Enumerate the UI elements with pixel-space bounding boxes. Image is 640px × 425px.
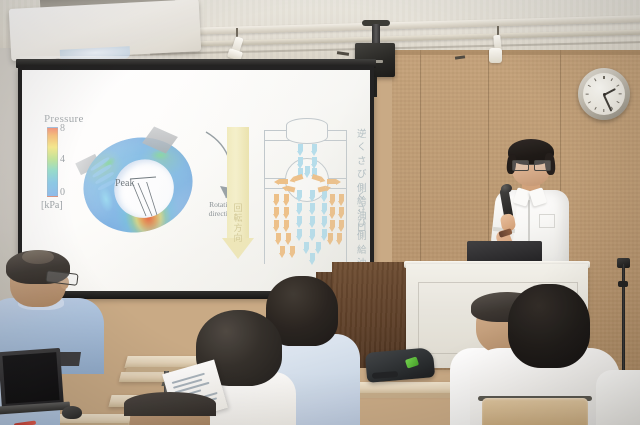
attendee-right-bob-hair xyxy=(508,284,590,368)
legend-tick-0: 0 xyxy=(60,187,65,198)
attendee-bottom-left-hair xyxy=(124,392,216,416)
clock-face xyxy=(583,73,625,115)
pressure-colorbar xyxy=(47,127,58,197)
spotlight-right-head xyxy=(489,48,502,63)
attendee-far-right-edge xyxy=(596,370,640,425)
slide-content: Pressure 8 4 0 [kPa] Peak xyxy=(22,70,370,292)
projection-screen: Pressure 8 4 0 [kPa] Peak xyxy=(22,70,370,292)
chair-back xyxy=(482,398,588,425)
legend-tick-4: 4 xyxy=(60,154,65,165)
lecture-room-photo: Pressure 8 4 0 [kPa] Peak xyxy=(0,0,640,425)
schematic-cylinder xyxy=(286,118,328,144)
peak-dash xyxy=(130,174,160,184)
wall-clock xyxy=(578,68,630,120)
presenter-shirt-pocket xyxy=(539,214,555,228)
audience-laptop-screen xyxy=(2,352,59,404)
computer-mouse[interactable] xyxy=(62,406,82,419)
eyeglasses-icon xyxy=(512,160,550,169)
legend-tick-8: 8 xyxy=(60,123,65,134)
clock-minute-hand xyxy=(603,94,612,111)
rotation-direction-big-arrow: 回転方向 xyxy=(227,127,249,259)
oil-flow-schematic: 逆くさび側給油口 くさび側給油口 xyxy=(260,116,360,264)
clock-center xyxy=(603,93,606,96)
peak-leader-lines xyxy=(132,182,174,224)
mic-stand-clamp xyxy=(618,281,628,287)
rotation-direction-jp-label: 回転方向 xyxy=(230,203,246,243)
wall-top-trim xyxy=(392,50,640,55)
legend-unit: [kPa] xyxy=(41,200,63,211)
